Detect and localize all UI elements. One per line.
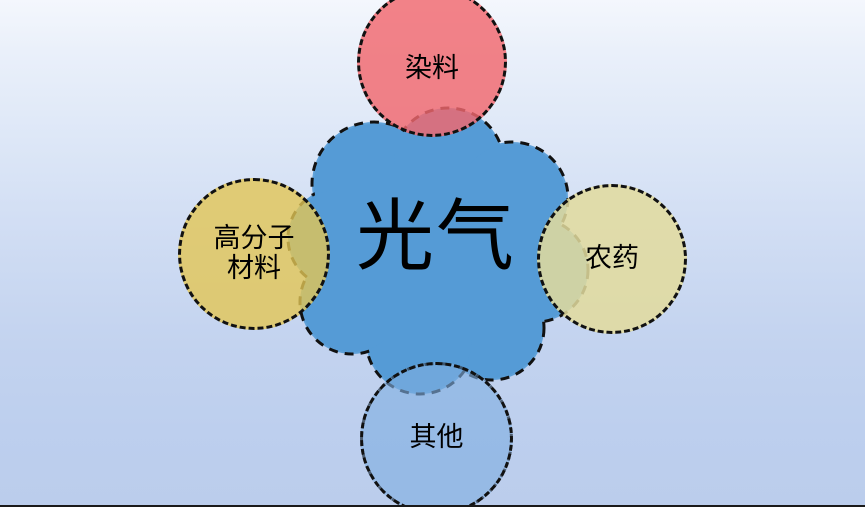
node-polymer-materials[interactable]: 高分子 材料 <box>178 178 330 330</box>
node-phosgene[interactable]: 光气 <box>296 112 576 380</box>
node-polymer-materials-label: 高分子 材料 <box>214 224 295 284</box>
node-dye-label: 染料 <box>405 54 459 84</box>
diagram-canvas: 染料 高分子 材料 农药 其他 <box>0 0 865 507</box>
node-other-label: 其他 <box>410 423 464 453</box>
node-other[interactable]: 其他 <box>360 362 513 507</box>
node-pesticide-label: 农药 <box>585 244 639 274</box>
node-phosgene-label: 光气 <box>356 194 516 281</box>
node-pesticide[interactable]: 农药 <box>537 184 687 334</box>
